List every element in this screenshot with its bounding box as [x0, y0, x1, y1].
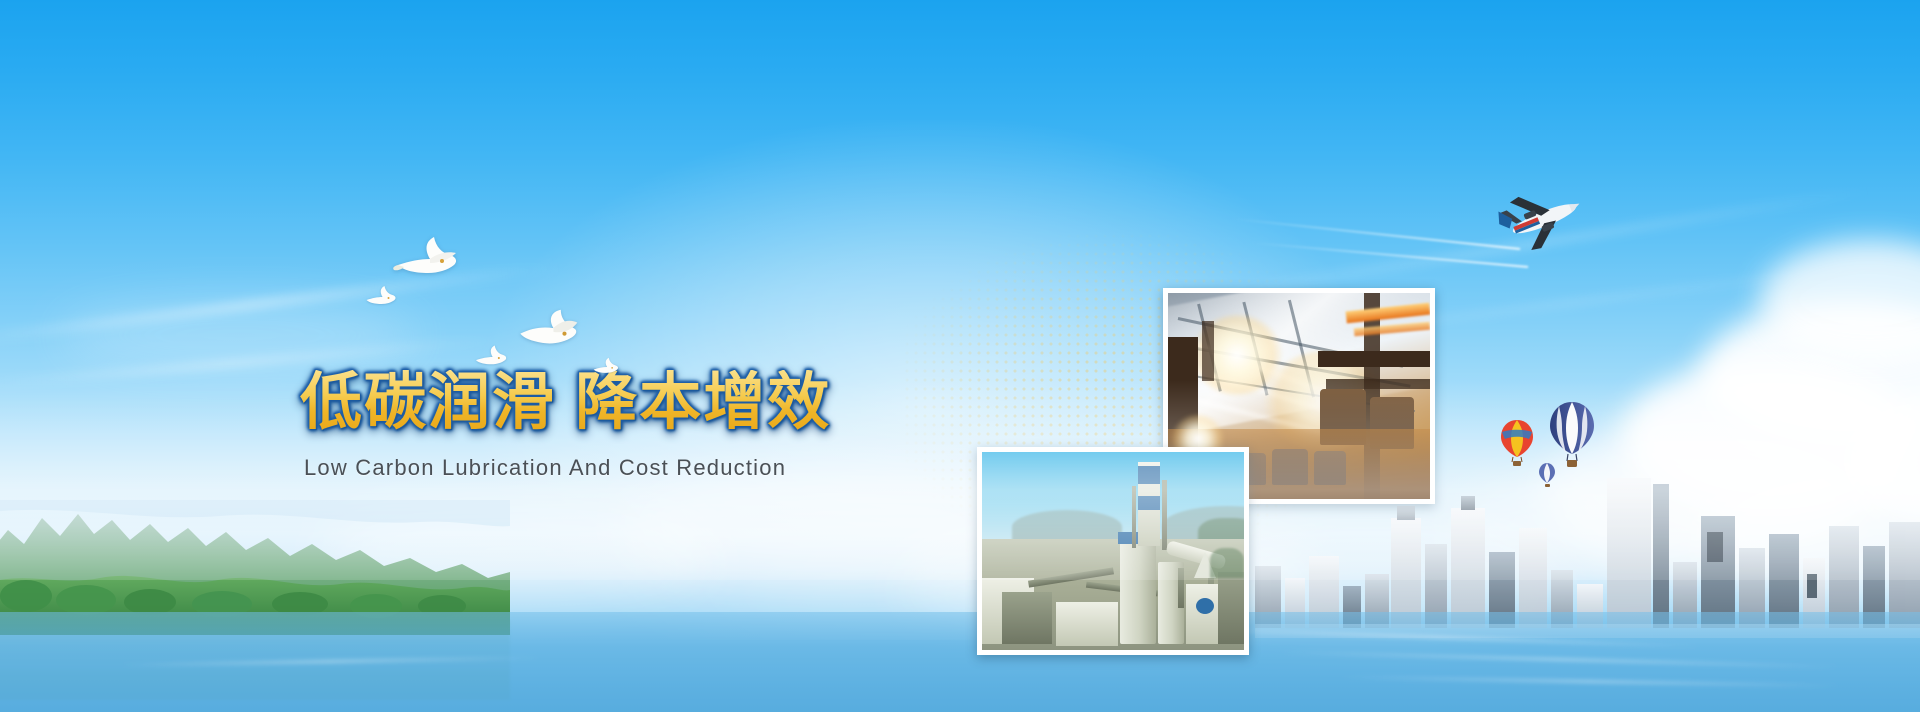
- tower-frame: [1162, 480, 1167, 550]
- structural-column: [1202, 321, 1214, 381]
- island-reflection: [0, 620, 510, 700]
- contrail: [1251, 242, 1528, 268]
- page-title: 低碳润滑 降本增效: [300, 370, 940, 437]
- headline-block: 低碳润滑 降本增效 Low Carbon Lubrication And Cos…: [300, 370, 940, 481]
- ladle: [1314, 451, 1346, 485]
- plant-trees: [1210, 548, 1244, 578]
- page-subtitle: Low Carbon Lubrication And Cost Reductio…: [304, 455, 940, 481]
- equipment-blue: [1196, 598, 1214, 614]
- kiln-support: [1178, 568, 1184, 608]
- structural-beam: [1318, 351, 1430, 367]
- cloud: [1700, 460, 1920, 600]
- cement-silo: [1120, 540, 1156, 644]
- dove-icon: [363, 285, 398, 309]
- tower-frame: [1132, 486, 1136, 548]
- tower-section: [1138, 496, 1160, 510]
- low-haze: [0, 380, 1920, 580]
- dove-icon: [515, 308, 579, 352]
- hot-air-balloon-blue: [1548, 400, 1596, 468]
- cloud: [1700, 300, 1920, 450]
- cloud: [1620, 360, 1920, 520]
- cloud: [320, 500, 720, 600]
- plant-building: [1056, 602, 1118, 646]
- water-streak: [1280, 651, 1840, 669]
- dove-icon: [472, 345, 508, 370]
- contrail: [1231, 218, 1520, 250]
- hot-air-balloon-red: [1500, 418, 1534, 468]
- sun-beam: [0, 262, 558, 347]
- cloud: [60, 300, 420, 370]
- tower-section: [1138, 466, 1160, 484]
- photo-cement-content: [982, 452, 1244, 650]
- cloud: [1840, 400, 1920, 520]
- mountain-island: [0, 500, 510, 635]
- cloud: [1760, 240, 1920, 360]
- sun-beam: [1184, 185, 1877, 303]
- plant-building: [1002, 592, 1052, 644]
- hot-air-balloon-small: [1538, 462, 1556, 488]
- dove-icon: [390, 235, 460, 283]
- water-streak: [120, 656, 540, 666]
- water-streak: [1340, 676, 1840, 688]
- water-surface: [0, 612, 1920, 712]
- photo-cement-plant[interactable]: [977, 447, 1249, 655]
- water-streak: [1180, 627, 1700, 648]
- cloud: [1540, 420, 1880, 570]
- ladle: [1272, 449, 1308, 485]
- promotional-banner: 低碳润滑 降本增效 Low Carbon Lubrication And Cos…: [0, 0, 1920, 712]
- cloud: [1450, 470, 1750, 590]
- airplane-icon: [1498, 186, 1584, 255]
- plant-structure: [1218, 572, 1244, 644]
- structural-beam: [1326, 379, 1430, 389]
